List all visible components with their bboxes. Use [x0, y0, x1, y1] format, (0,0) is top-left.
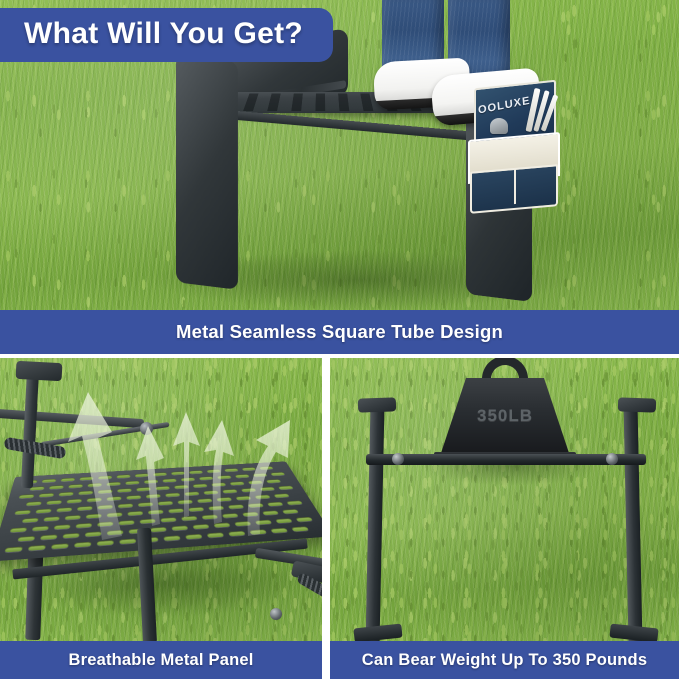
frame-rail-top	[0, 409, 144, 428]
perforation-slot	[14, 510, 31, 515]
perforation-slot	[188, 507, 204, 512]
perforation-slot	[171, 525, 188, 530]
perforation-slot	[56, 507, 72, 512]
perforation-grid	[4, 466, 319, 554]
perforation-slot	[85, 531, 102, 537]
perforation-slot	[17, 536, 35, 542]
perforation-slot	[255, 520, 272, 525]
perforation-slot	[119, 538, 136, 544]
perforation-slot	[273, 493, 289, 497]
perforation-slot	[224, 468, 238, 472]
perforation-slot	[242, 512, 259, 517]
perforation-slot	[266, 479, 281, 483]
perforation-slot	[63, 533, 80, 539]
perforation-slot	[22, 518, 39, 523]
perforation-slot	[235, 496, 251, 500]
perforation-slot	[242, 467, 257, 471]
perforation-slot	[275, 518, 292, 523]
perforation-slot	[117, 488, 132, 492]
hinge-bolt-left	[140, 422, 153, 435]
perforation-slot	[217, 475, 232, 479]
perforation-slot	[127, 511, 143, 516]
perforation-slot	[207, 532, 225, 538]
perforation-slot	[107, 496, 122, 500]
perforation-slot	[118, 503, 133, 508]
bench-leg-left	[176, 54, 238, 290]
perforation-slot	[189, 470, 203, 474]
page-title: What Will You Get?	[0, 8, 333, 62]
perforation-slot	[107, 482, 121, 486]
perforation-slot	[78, 491, 93, 495]
tool-pouch-pocket-divider	[514, 168, 516, 204]
perforation-slot	[228, 504, 244, 509]
perforation-slot	[197, 498, 213, 503]
perforation-slot	[162, 478, 177, 482]
frame-cap-left	[358, 397, 396, 412]
perforation-slot	[249, 529, 267, 534]
panel-bottom-right-image: 350LB	[330, 358, 679, 641]
perforation-slot	[241, 488, 257, 492]
weight-test-scene: 350LB	[330, 358, 679, 641]
perforation-slot	[199, 476, 214, 480]
perforation-slot	[74, 542, 91, 548]
perforation-slot	[171, 471, 185, 475]
perforation-slot	[49, 485, 64, 489]
perforation-slot	[40, 534, 57, 540]
hinge-bolt-right	[270, 608, 282, 620]
crossbar-bolt-right	[606, 453, 618, 465]
product-infographic: OOLUXE What Will You Get? Metal Seamless…	[0, 0, 679, 679]
perforation-slot	[144, 480, 158, 484]
perforation-slot	[295, 517, 313, 522]
perforation-slot	[46, 500, 62, 505]
perforation-slot	[19, 494, 35, 498]
breathable-panel-scene	[0, 358, 322, 641]
caption-bottom-left: Breathable Metal Panel	[0, 641, 322, 679]
perforation-slot	[185, 534, 202, 540]
perforation-slot	[267, 502, 283, 507]
perforation-slot	[255, 495, 271, 499]
perforation-slot	[259, 487, 275, 491]
perforation-slot	[107, 512, 123, 517]
perforation-slot	[213, 522, 230, 527]
perforation-slot	[155, 486, 170, 490]
weight-label: 350LB	[440, 406, 570, 426]
divider-vertical	[322, 358, 330, 679]
perforation-slot	[87, 497, 102, 502]
perforation-slot	[39, 493, 54, 497]
perforation-slot	[270, 528, 288, 533]
perforation-slot	[153, 472, 167, 476]
perforation-slot	[148, 509, 164, 514]
trowel-head	[490, 118, 508, 134]
perforation-slot	[291, 526, 309, 531]
bench-foot-right	[609, 624, 658, 641]
perforation-slot	[65, 515, 81, 520]
perforation-slot	[211, 482, 226, 486]
perforation-slot	[278, 486, 294, 490]
perforation-slot	[28, 545, 46, 551]
perforation-slot	[270, 472, 285, 476]
perforation-slot	[168, 508, 184, 513]
perforation-slot	[248, 480, 263, 484]
perforation-slot	[203, 490, 218, 494]
perforation-slot	[174, 485, 189, 489]
perforation-slot	[35, 508, 51, 513]
bench-leg-left-br	[365, 404, 384, 641]
perforation-slot	[158, 501, 174, 506]
perforation-slot	[97, 540, 114, 546]
perforation-slot	[192, 524, 209, 529]
perforation-slot	[118, 520, 134, 525]
frame-cap-right	[618, 397, 656, 412]
bench-leg-right-br	[623, 404, 642, 641]
perforation-slot	[222, 489, 237, 493]
perforation-slot	[150, 527, 167, 532]
perforation-slot	[117, 474, 131, 478]
perforation-slot	[4, 546, 23, 552]
perforation-slot	[42, 479, 57, 483]
perforation-slot	[184, 491, 199, 495]
crossbar-bolt-left	[392, 453, 404, 465]
perforation-slot	[208, 506, 224, 511]
perforation-slot	[235, 474, 250, 478]
perforation-slot	[77, 506, 93, 511]
perforation-slot	[253, 473, 268, 477]
perforation-slot	[222, 513, 239, 518]
perforation-slot	[98, 505, 113, 510]
perforation-slot	[98, 475, 112, 479]
perforation-slot	[54, 524, 71, 529]
perforation-slot	[10, 527, 28, 532]
perforation-slot	[193, 484, 208, 488]
perforation-slot	[107, 530, 123, 535]
perforation-slot	[76, 523, 92, 528]
perforation-slot	[181, 477, 196, 481]
caption-top: Metal Seamless Square Tube Design	[0, 310, 679, 354]
perforation-slot	[87, 483, 101, 487]
perforation-slot	[32, 526, 49, 531]
perforation-slot	[59, 492, 74, 496]
perforation-slot	[97, 521, 113, 526]
perforation-slot	[135, 473, 149, 477]
perforation-slot	[86, 514, 102, 519]
perforation-slot	[262, 510, 279, 515]
perforation-slot	[228, 531, 246, 537]
perforation-slot	[177, 499, 193, 504]
perforation-slot	[234, 521, 251, 526]
panel-top-image: OOLUXE What Will You Get?	[0, 0, 679, 310]
perforation-slot	[259, 466, 274, 470]
perforation-slot	[247, 503, 263, 508]
perforation-slot	[68, 484, 83, 488]
panel-bottom-left-image	[0, 358, 322, 641]
bench-crossbar	[366, 454, 646, 465]
perforation-slot	[79, 477, 93, 481]
frame-upright-post	[21, 368, 39, 488]
perforation-slot	[136, 487, 151, 491]
perforation-slot	[51, 543, 69, 549]
perforation-slot	[67, 499, 82, 504]
perforation-slot	[165, 493, 180, 497]
bench-foot-left	[353, 624, 402, 641]
perforation-slot	[138, 502, 153, 507]
perforation-slot	[286, 500, 303, 505]
perforation-slot	[160, 517, 176, 522]
perforation-slot	[126, 495, 141, 499]
perforation-slot	[229, 481, 244, 485]
perforation-slot	[43, 516, 60, 521]
perforation-slot	[146, 494, 161, 498]
perforation-slot	[181, 516, 197, 521]
tool-pouch: OOLUXE	[468, 84, 560, 206]
perforation-slot	[282, 509, 299, 514]
frame-bracket-left	[16, 361, 63, 381]
perforation-slot	[163, 535, 180, 541]
perforation-slot	[98, 489, 113, 493]
caption-bottom-right: Can Bear Weight Up To 350 Pounds	[330, 641, 679, 679]
perforation-slot	[201, 514, 218, 519]
perforation-slot	[206, 469, 220, 473]
perforation-slot	[26, 501, 42, 506]
perforation-slot	[125, 481, 139, 485]
perforation-slot	[61, 478, 75, 482]
perforation-slot	[139, 519, 155, 524]
perforation-slot	[216, 497, 232, 502]
